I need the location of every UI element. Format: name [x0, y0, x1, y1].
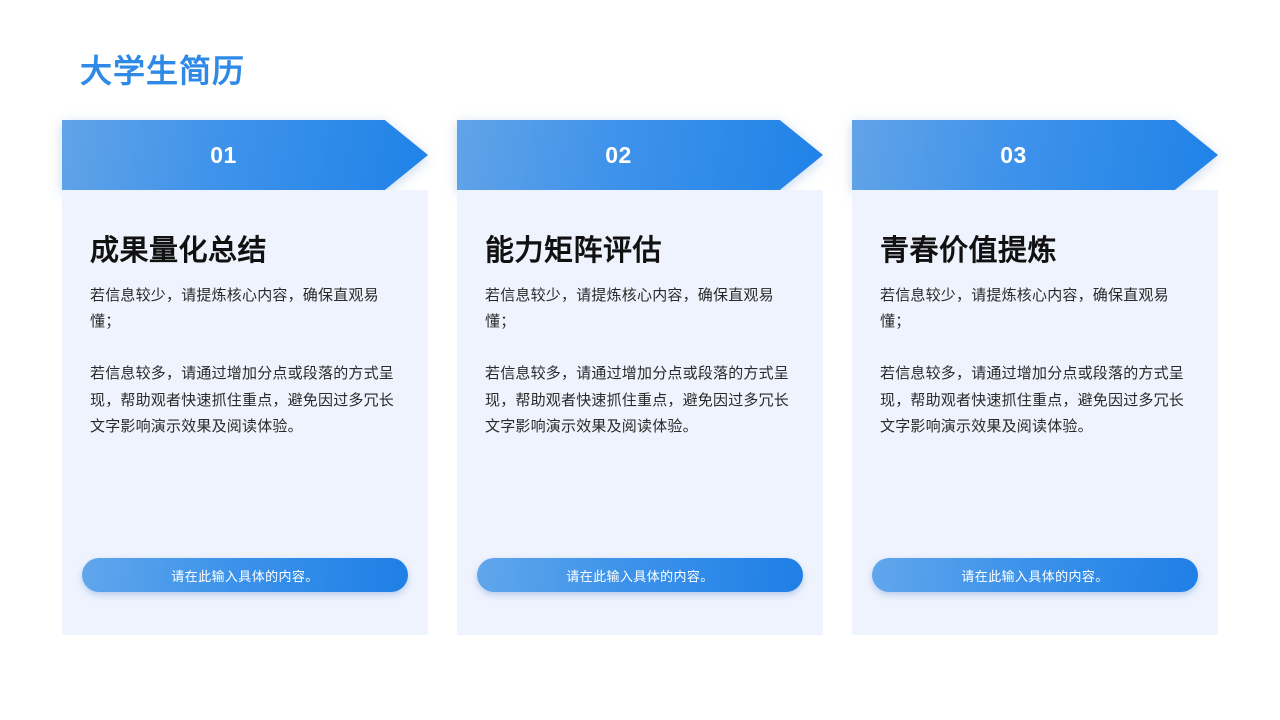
card-paragraph: 若信息较多，请通过增加分点或段落的方式呈现，帮助观者快速抓住重点，避免因过多冗长…	[880, 361, 1190, 440]
card-column-02: 02 能力矩阵评估 若信息较少，请提炼核心内容，确保直观易懂； 若信息较多，请通…	[457, 120, 823, 635]
card-paragraph: 若信息较少，请提炼核心内容，确保直观易懂；	[90, 283, 400, 336]
card-text-01: 若信息较少，请提炼核心内容，确保直观易懂； 若信息较多，请通过增加分点或段落的方…	[90, 283, 400, 558]
card-column-01: 01 成果量化总结 若信息较少，请提炼核心内容，确保直观易懂； 若信息较多，请通…	[62, 120, 428, 635]
card-text-03: 若信息较少，请提炼核心内容，确保直观易懂； 若信息较多，请通过增加分点或段落的方…	[880, 283, 1190, 558]
card-cta-button-02[interactable]: 请在此输入具体的内容。	[477, 558, 803, 592]
card-paragraph: 若信息较少，请提炼核心内容，确保直观易懂；	[880, 283, 1190, 336]
step-banner-03: 03	[852, 120, 1218, 190]
card-title-01: 成果量化总结	[90, 234, 400, 269]
card-body-01: 成果量化总结 若信息较少，请提炼核心内容，确保直观易懂； 若信息较多，请通过增加…	[62, 190, 428, 635]
card-title-02: 能力矩阵评估	[485, 234, 795, 269]
step-number-02: 02	[457, 120, 780, 190]
card-paragraph: 若信息较多，请通过增加分点或段落的方式呈现，帮助观者快速抓住重点，避免因过多冗长…	[485, 361, 795, 440]
step-number-03: 03	[852, 120, 1175, 190]
card-title-03: 青春价值提炼	[880, 234, 1190, 269]
card-cta-button-03[interactable]: 请在此输入具体的内容。	[872, 558, 1198, 592]
step-banner-01: 01	[62, 120, 428, 190]
page-title: 大学生简历	[80, 52, 245, 90]
card-body-02: 能力矩阵评估 若信息较少，请提炼核心内容，确保直观易懂； 若信息较多，请通过增加…	[457, 190, 823, 635]
card-column-03: 03 青春价值提炼 若信息较少，请提炼核心内容，确保直观易懂； 若信息较多，请通…	[852, 120, 1218, 635]
card-cta-button-01[interactable]: 请在此输入具体的内容。	[82, 558, 408, 592]
card-paragraph: 若信息较多，请通过增加分点或段落的方式呈现，帮助观者快速抓住重点，避免因过多冗长…	[90, 361, 400, 440]
card-text-02: 若信息较少，请提炼核心内容，确保直观易懂； 若信息较多，请通过增加分点或段落的方…	[485, 283, 795, 558]
card-paragraph: 若信息较少，请提炼核心内容，确保直观易懂；	[485, 283, 795, 336]
step-banner-02: 02	[457, 120, 823, 190]
columns-container: 01 成果量化总结 若信息较少，请提炼核心内容，确保直观易懂； 若信息较多，请通…	[62, 120, 1218, 635]
card-body-03: 青春价值提炼 若信息较少，请提炼核心内容，确保直观易懂； 若信息较多，请通过增加…	[852, 190, 1218, 635]
step-number-01: 01	[62, 120, 385, 190]
